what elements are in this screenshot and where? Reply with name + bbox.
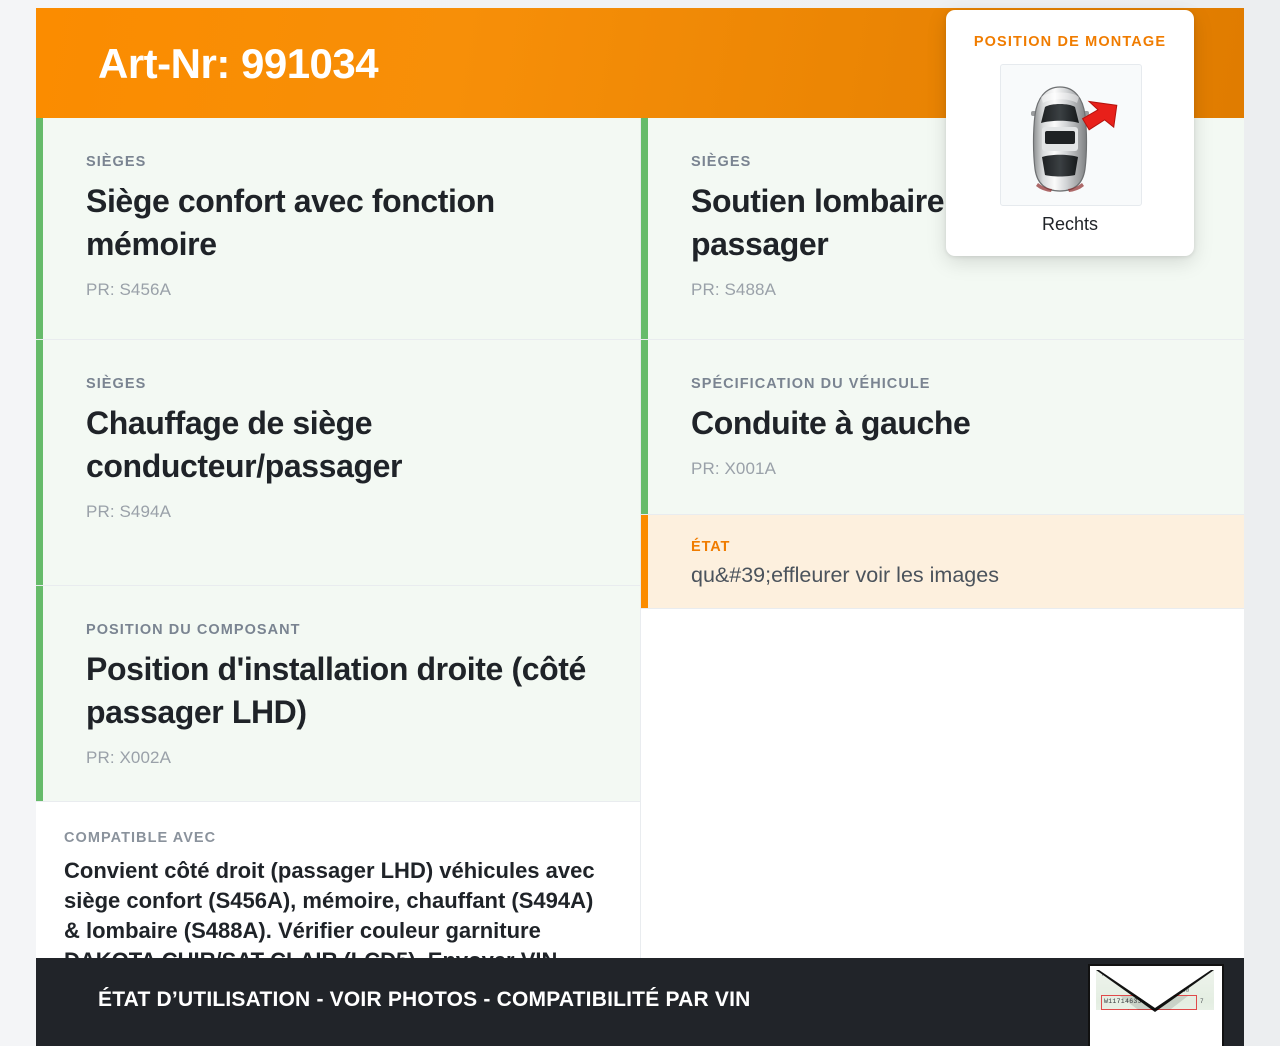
feature-label: SPÉCIFICATION DU VÉHICULE: [691, 376, 1200, 392]
feature-label: SIÈGES: [86, 154, 596, 170]
feature-pr-code: PR: X002A: [86, 748, 596, 768]
footer-bar: ÉTAT D’UTILISATION - VOIR PHOTOS - COMPA…: [36, 958, 1244, 1046]
condition-text: qu&#39;effleurer voir les images: [691, 562, 1200, 590]
mounting-position-caption: Rechts: [946, 214, 1194, 235]
feature-label: SIÈGES: [86, 376, 596, 392]
feature-pr-code: PR: S456A: [86, 280, 596, 300]
condition-card[interactable]: ÉTAT qu&#39;effleurer voir les images: [641, 515, 1244, 609]
feature-card[interactable]: POSITION DU COMPOSANT Position d'install…: [36, 586, 640, 802]
feature-title: Position d'installation droite (côté pas…: [86, 648, 596, 734]
feature-pr-code: PR: S488A: [691, 280, 1200, 300]
mounting-position-popup[interactable]: POSITION DE MONTAGE: [946, 10, 1194, 256]
feature-card[interactable]: SIÈGES Chauffage de siège conducteur/pas…: [36, 340, 640, 586]
mounting-position-title: POSITION DE MONTAGE: [946, 34, 1194, 50]
feature-pr-code: PR: X001A: [691, 459, 1200, 479]
feature-pr-code: PR: S494A: [86, 502, 596, 522]
feature-title: Conduite à gauche: [691, 402, 1200, 445]
car-top-view-with-arrow-icon: [1000, 64, 1142, 206]
footer-notice: ÉTAT D’UTILISATION - VOIR PHOTOS - COMPA…: [98, 988, 750, 1012]
feature-title: Siège confort avec fonction mémoire: [86, 180, 596, 266]
page-title: Art-Nr: 991034: [98, 36, 378, 92]
compatibility-card: COMPATIBLE AVEC Convient côté droit (pas…: [36, 802, 640, 958]
feature-card[interactable]: SIÈGES Siège confort avec fonction mémoi…: [36, 118, 640, 340]
vehicle-registration-envelope-icon[interactable]: Fahrgestellnr. (4) A40 W1171463J31B4B 7 …: [1088, 964, 1224, 1046]
envelope-flap: [1099, 970, 1211, 1008]
feature-title: Chauffage de siège conducteur/passager: [86, 402, 596, 488]
feature-label: POSITION DU COMPOSANT: [86, 622, 596, 638]
condition-label: ÉTAT: [691, 539, 1200, 555]
envelope-body: [1096, 1010, 1214, 1040]
feature-card[interactable]: SPÉCIFICATION DU VÉHICULE Conduite à gau…: [641, 340, 1244, 515]
page-root: Art-Nr: 991034 SIÈGES Siège confort avec…: [0, 0, 1280, 1046]
car-diagram-svg: [1001, 65, 1139, 203]
features-column-left: SIÈGES Siège confort avec fonction mémoi…: [36, 118, 640, 958]
compatibility-label: COMPATIBLE AVEC: [64, 830, 596, 846]
